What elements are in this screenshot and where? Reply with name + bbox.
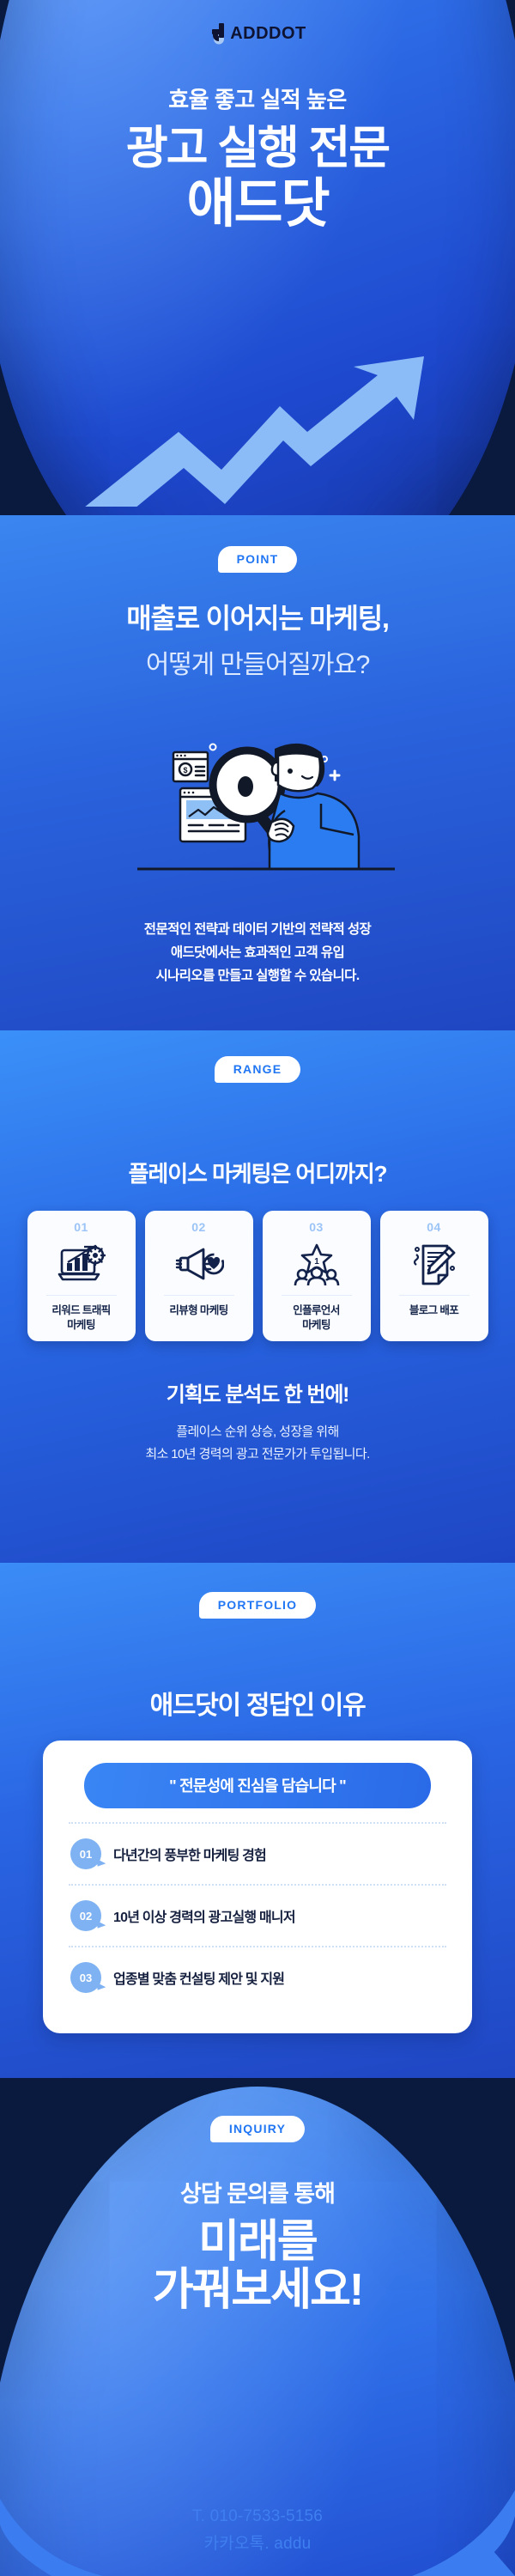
inquiry-headline: 상담 문의를 통해 bbox=[0, 2175, 515, 2208]
card-number: 03 bbox=[309, 1220, 324, 1234]
portfolio-reason-list: 01 다년간의 풍부한 마케팅 경험 02 10년 이상 경력의 광고실행 매니… bbox=[69, 1822, 446, 2008]
point-title-light: 어떻게 만들어질까요? bbox=[0, 643, 515, 681]
laptop-bar-chart-gear-icon bbox=[58, 1240, 106, 1290]
item-text: 업종별 맞춤 컨설팅 제안 및 지원 bbox=[113, 1967, 284, 1988]
star-people-group-icon: 1 bbox=[293, 1240, 341, 1290]
range-card-01[interactable]: 01 bbox=[27, 1211, 136, 1341]
range-card-list: 01 bbox=[0, 1211, 515, 1341]
range-badge: RANGE bbox=[215, 1056, 301, 1083]
contact-phone[interactable]: T. 010-7533-5156 bbox=[0, 2507, 515, 2526]
range-headline: 기획도 분석도 한 번에! bbox=[0, 1377, 515, 1407]
card-label-line1: 인플루언서 bbox=[293, 1304, 340, 1316]
card-label-line2: 마케팅 bbox=[302, 1319, 330, 1331]
list-item: 03 업종별 맞춤 컨설팅 제안 및 지원 bbox=[69, 1947, 446, 2008]
card-divider bbox=[282, 1295, 352, 1296]
card-divider bbox=[399, 1295, 470, 1296]
card-label-line2: 마케팅 bbox=[67, 1319, 95, 1331]
person-magnifier-analytics-illustration: $ bbox=[103, 740, 412, 903]
card-label: 블로그 배포 bbox=[404, 1303, 463, 1318]
range-card-04[interactable]: 04 블로그 배포 bbox=[380, 1211, 488, 1341]
card-divider bbox=[46, 1295, 117, 1296]
svg-text:1: 1 bbox=[314, 1257, 319, 1267]
list-item: 01 다년간의 풍부한 마케팅 경험 bbox=[69, 1824, 446, 1884]
document-pen-icon bbox=[411, 1240, 457, 1290]
logo: ADDDOT bbox=[0, 22, 515, 45]
growth-arrow-graphic bbox=[77, 356, 455, 507]
range-section: RANGE 플레이스 마케팅은 어디까지? 01 bbox=[0, 1030, 515, 1563]
range-body-line1: 플레이스 순위 상승, 성장을 위해 bbox=[0, 1421, 515, 1443]
point-title-bold: 매출로 이어지는 마케팅, bbox=[0, 597, 515, 636]
portfolio-quote-pill: " 전문성에 진심을 담습니다 " bbox=[84, 1763, 431, 1808]
point-body-line3: 시나리오를 만들고 실행할 수 있습니다. bbox=[0, 964, 515, 987]
hero-headline-line2: 애드닷 bbox=[0, 176, 515, 232]
hero-section: ADDDOT 효율 좋고 실적 높은 광고 실행 전문 애드닷 bbox=[0, 0, 515, 515]
portfolio-badge: PORTFOLIO bbox=[199, 1592, 316, 1619]
item-number-badge: 02 bbox=[70, 1900, 101, 1931]
point-body-line2: 애드닷에서는 효과적인 고객 유입 bbox=[0, 941, 515, 964]
item-text: 다년간의 풍부한 마케팅 경험 bbox=[113, 1844, 266, 1864]
card-label: 리워드 트래픽 마케팅 bbox=[46, 1303, 115, 1333]
item-number-badge: 03 bbox=[70, 1962, 101, 1993]
range-card-02[interactable]: 02 리뷰형 마케팅 bbox=[145, 1211, 253, 1341]
inquiry-section: INQUIRY 상담 문의를 통해 미래를 가꿔보세요! T. 010-7533… bbox=[0, 2078, 515, 2576]
d-dot-mark-icon bbox=[209, 22, 227, 45]
logo-text: ADDDOT bbox=[230, 24, 306, 44]
item-text: 10년 이상 경력의 광고실행 매니저 bbox=[113, 1905, 295, 1926]
portfolio-section: PORTFOLIO 애드닷이 정답인 이유 " 전문성에 진심을 담습니다 " … bbox=[0, 1563, 515, 2078]
point-badge: POINT bbox=[218, 546, 298, 573]
portfolio-title: 애드닷이 정답인 이유 bbox=[0, 1684, 515, 1722]
svg-text:$: $ bbox=[183, 766, 187, 775]
portfolio-card: " 전문성에 진심을 담습니다 " 01 다년간의 풍부한 마케팅 경험 02 … bbox=[43, 1741, 472, 2033]
card-label: 리뷰형 마케팅 bbox=[164, 1303, 233, 1318]
hero-headline-line1: 광고 실행 전문 bbox=[0, 125, 515, 173]
card-label-line1: 리워드 트래픽 bbox=[51, 1304, 110, 1316]
card-divider bbox=[164, 1295, 234, 1296]
point-body-line1: 전문적인 전략과 데이터 기반의 전략적 성장 bbox=[0, 918, 515, 941]
range-body-line2: 최소 10년 경력의 광고 전문가가 투입됩니다. bbox=[0, 1443, 515, 1466]
card-number: 04 bbox=[427, 1220, 441, 1234]
item-number-badge: 01 bbox=[70, 1838, 101, 1869]
card-label-line1: 리뷰형 마케팅 bbox=[169, 1304, 227, 1316]
card-label-line1: 블로그 배포 bbox=[409, 1304, 458, 1316]
card-number: 01 bbox=[74, 1220, 88, 1234]
inquiry-badge: INQUIRY bbox=[210, 2116, 305, 2142]
megaphone-heart-icon bbox=[174, 1240, 224, 1290]
landing-page: ADDDOT 효율 좋고 실적 높은 광고 실행 전문 애드닷 POINT 매출… bbox=[0, 0, 515, 2576]
contact-block: T. 010-7533-5156 카카오톡. addu bbox=[0, 2507, 515, 2554]
inquiry-big-line1: 미래를 bbox=[0, 2219, 515, 2266]
card-number: 02 bbox=[191, 1220, 206, 1234]
point-section: POINT 매출로 이어지는 마케팅, 어떻게 만들어질까요? $ bbox=[0, 515, 515, 1030]
list-item: 02 10년 이상 경력의 광고실행 매니저 bbox=[69, 1886, 446, 1946]
hero-subheadline: 효율 좋고 실적 높은 bbox=[0, 82, 515, 114]
range-card-03[interactable]: 03 1 인플루언서 마케팅 bbox=[263, 1211, 371, 1341]
contact-kakao[interactable]: 카카오톡. addu bbox=[0, 2530, 515, 2554]
range-title: 플레이스 마케팅은 어디까지? bbox=[0, 1157, 515, 1188]
card-label: 인플루언서 마케팅 bbox=[288, 1303, 345, 1333]
inquiry-big-line2: 가꿔보세요! bbox=[0, 2266, 515, 2315]
